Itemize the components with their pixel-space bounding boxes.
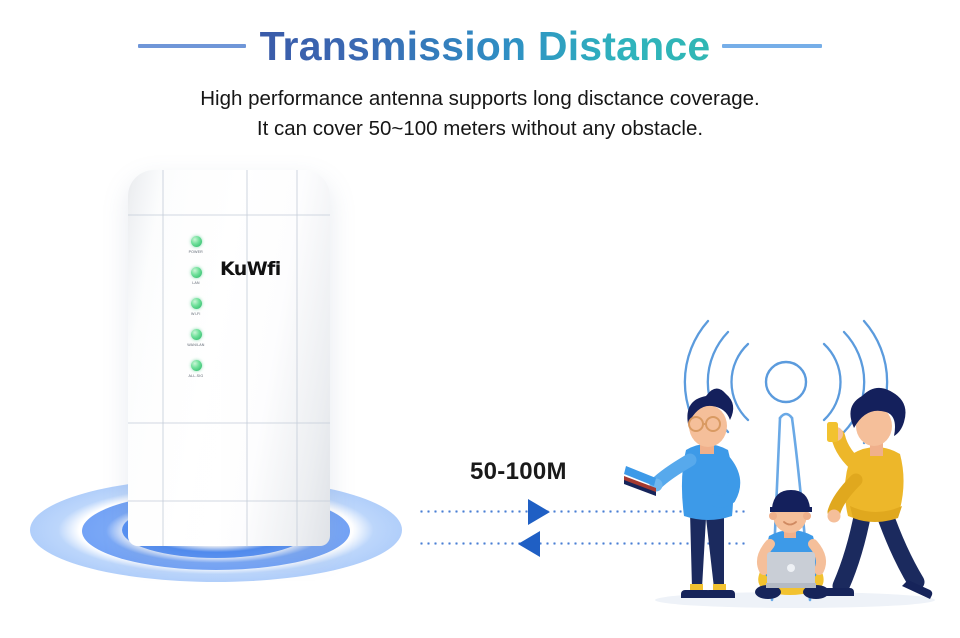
led-all-sig: ALL-SIG [176, 360, 216, 391]
led-lan: LAN [176, 267, 216, 298]
led-indicator-column: POWER LAN WI-FI WAN/LAN ALL-SIG [176, 236, 216, 391]
boy-ear-right [803, 512, 811, 520]
boy-ear-left [769, 512, 777, 520]
led-power-icon [191, 236, 202, 247]
phone-person-leg-back [841, 512, 863, 586]
led-power: POWER [176, 236, 216, 267]
led-power-label: POWER [189, 249, 203, 254]
router-body: POWER LAN WI-FI WAN/LAN ALL-SIG KuWfi [128, 170, 330, 546]
led-all-sig-label: ALL-SIG [189, 373, 204, 378]
person-man-with-laptop [624, 388, 735, 598]
router-device-group: POWER LAN WI-FI WAN/LAN ALL-SIG KuWfi [0, 0, 440, 638]
distance-label: 50-100M [470, 458, 567, 486]
person-with-phone [822, 388, 932, 599]
led-wifi-icon [191, 298, 202, 309]
router-groove-bottom [128, 500, 330, 502]
router-groove-right [296, 170, 298, 546]
router-groove-top [128, 214, 330, 216]
laptop-on-lap [766, 552, 816, 588]
boy-cap-brim [770, 507, 812, 512]
title-rule-right [722, 44, 822, 48]
led-all-sig-icon [191, 360, 202, 371]
laptop-held [624, 466, 656, 496]
router-groove-lower [128, 422, 330, 424]
arrow-left-icon [518, 531, 540, 557]
coverage-scene [620, 300, 960, 630]
led-lan-label: LAN [192, 280, 199, 285]
router-groove-left [162, 170, 164, 546]
man-legs [690, 512, 724, 588]
phone-person-hand-lowered [828, 510, 841, 523]
led-wan-lan: WAN/LAN [176, 329, 216, 360]
led-wifi: WI-FI [176, 298, 216, 329]
man-shoe-right [705, 590, 735, 598]
led-wifi-label: WI-FI [191, 311, 200, 316]
brand-logo: KuWfi [220, 258, 281, 280]
man-sock-right [713, 584, 726, 590]
led-wan-lan-icon [191, 329, 202, 340]
phone-person-leg-front [884, 512, 916, 582]
led-wan-lan-label: WAN/LAN [187, 342, 204, 347]
man-sock-left [690, 584, 703, 590]
person-boy-with-laptop [755, 490, 829, 599]
smartphone-icon [827, 422, 838, 442]
phone-person-shoe-back [822, 588, 854, 596]
led-lan-icon [191, 267, 202, 278]
signal-emitter-icon [766, 362, 806, 402]
arrow-right-icon [528, 499, 550, 525]
router-groove-mid [246, 170, 248, 546]
